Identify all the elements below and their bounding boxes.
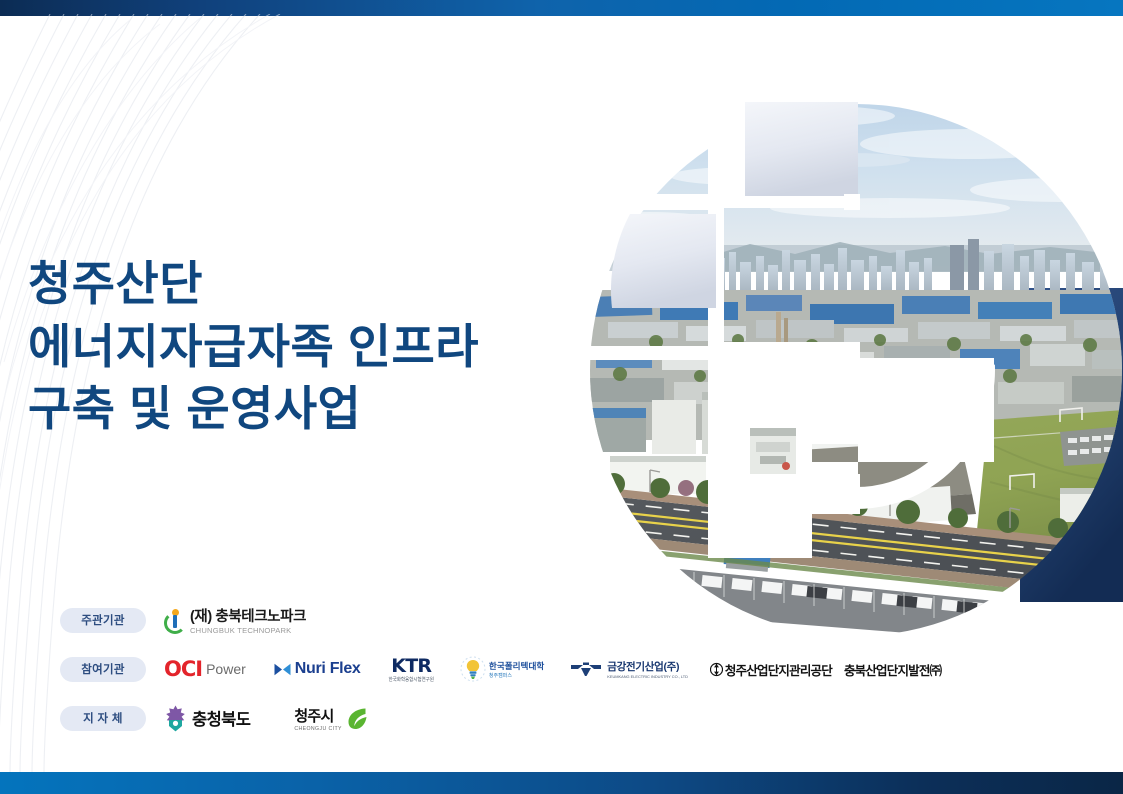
partner-role-pill: 지 자 체: [60, 706, 146, 731]
oci-power-word: Power: [206, 661, 246, 677]
keumkang-electric-logo[interactable]: 금강전기산업(주) KEUMKANG ELECTRIC INDUSTRY CO.…: [570, 659, 688, 679]
keumkang-mark-icon: [570, 661, 602, 677]
page-title: 청주산단 에너지자급자족 인프라 구축 및 운영사업: [28, 253, 588, 441]
chungbuk-industrial-development-logo[interactable]: 충북산업단지발전㈜: [844, 660, 941, 679]
cheongju-city-name-en: CHEONGJU CITY: [294, 726, 342, 732]
oci-wordmark: OCI: [164, 657, 202, 681]
ktr-logo[interactable]: KTR 한국화학융합시험연구원: [389, 655, 434, 683]
partner-logo-rows: 주관기관 (재) 충북테크노파크 CHUNGBUK TECHNOPARK 참여기…: [60, 596, 960, 743]
keumkang-name-en: KEUMKANG ELECTRIC INDUSTRY CO., LTD: [607, 674, 688, 679]
partner-row: 지 자 체 충청북도 청주시 CHEONGJU CITY: [60, 694, 960, 742]
title-line-1: 청주산단: [28, 253, 588, 316]
industrial-complex-mark-icon: [710, 662, 723, 677]
keumkang-name-ko: 금강전기산업(주): [607, 659, 688, 674]
logo-name-ko: (재) 충북테크노파크: [190, 605, 306, 626]
partner-role-pill: 주관기관: [60, 608, 146, 633]
chungcheongbukdo-emblem-icon: [164, 705, 187, 732]
logo-group: 충청북도 청주시 CHEONGJU CITY: [164, 705, 370, 732]
gray-panel-left: [611, 214, 716, 308]
presentation-title-slide: 청주산단 에너지자급자족 인프라 구축 및 운영사업: [0, 0, 1123, 794]
bottom-accent-bar: [0, 772, 1123, 794]
inner-photo-tiles: [750, 428, 796, 474]
nuri-flex-logo[interactable]: Nuri Flex: [274, 660, 361, 678]
oci-power-logo[interactable]: OCI Power: [164, 657, 246, 681]
title-line-3: 구축 및 운영사업: [28, 378, 588, 441]
partner-row: 주관기관 (재) 충북테크노파크 CHUNGBUK TECHNOPARK: [60, 596, 960, 644]
chungcheongbukdo-logo[interactable]: 충청북도: [164, 705, 250, 732]
chungcheongbukdo-name: 충청북도: [192, 706, 250, 730]
chungbuk-technopark-logo[interactable]: (재) 충북테크노파크 CHUNGBUK TECHNOPARK: [164, 605, 306, 635]
logo-group: OCI Power Nuri Flex KTR 한국화학융합시험연구원: [164, 655, 941, 683]
cheongju-industrial-complex-logo[interactable]: 청주산업단지관리공단: [710, 660, 832, 679]
chungbuk-dev-name: 충북산업단지발전㈜: [844, 660, 941, 679]
cheongju-leaf-icon: [345, 706, 370, 731]
top-accent-bar: [0, 0, 1123, 16]
cheongju-complex-name: 청주산업단지관리공단: [725, 660, 832, 679]
ktr-subtitle: 한국화학융합시험연구원: [389, 677, 434, 684]
cheongju-city-logo[interactable]: 청주시 CHEONGJU CITY: [294, 705, 370, 732]
partner-role-pill: 참여기관: [60, 657, 146, 682]
logo-group: (재) 충북테크노파크 CHUNGBUK TECHNOPARK: [164, 605, 306, 635]
polytechnic-emblem-icon: [460, 656, 486, 682]
technopark-mark-icon: [164, 609, 186, 631]
polytechnic-campus: 청주캠퍼스: [489, 672, 544, 679]
title-line-2: 에너지자급자족 인프라: [28, 316, 588, 379]
ktr-wordmark: KTR: [391, 655, 431, 677]
nuriflex-wordmark: Nuri Flex: [295, 660, 361, 678]
hero-circular-collage: [590, 90, 1123, 650]
partner-row: 참여기관 OCI Power Nuri Flex KTR: [60, 645, 960, 693]
korea-polytechnic-logo[interactable]: 한국폴리텍대학 청주캠퍼스: [460, 656, 544, 682]
polytechnic-name-ko: 한국폴리텍대학: [489, 660, 544, 672]
nuriflex-bowtie-icon: [274, 663, 291, 676]
gray-panel-top: [745, 102, 858, 196]
cheongju-city-name-ko: 청주시: [294, 705, 342, 726]
logo-name-en: CHUNGBUK TECHNOPARK: [190, 626, 306, 635]
